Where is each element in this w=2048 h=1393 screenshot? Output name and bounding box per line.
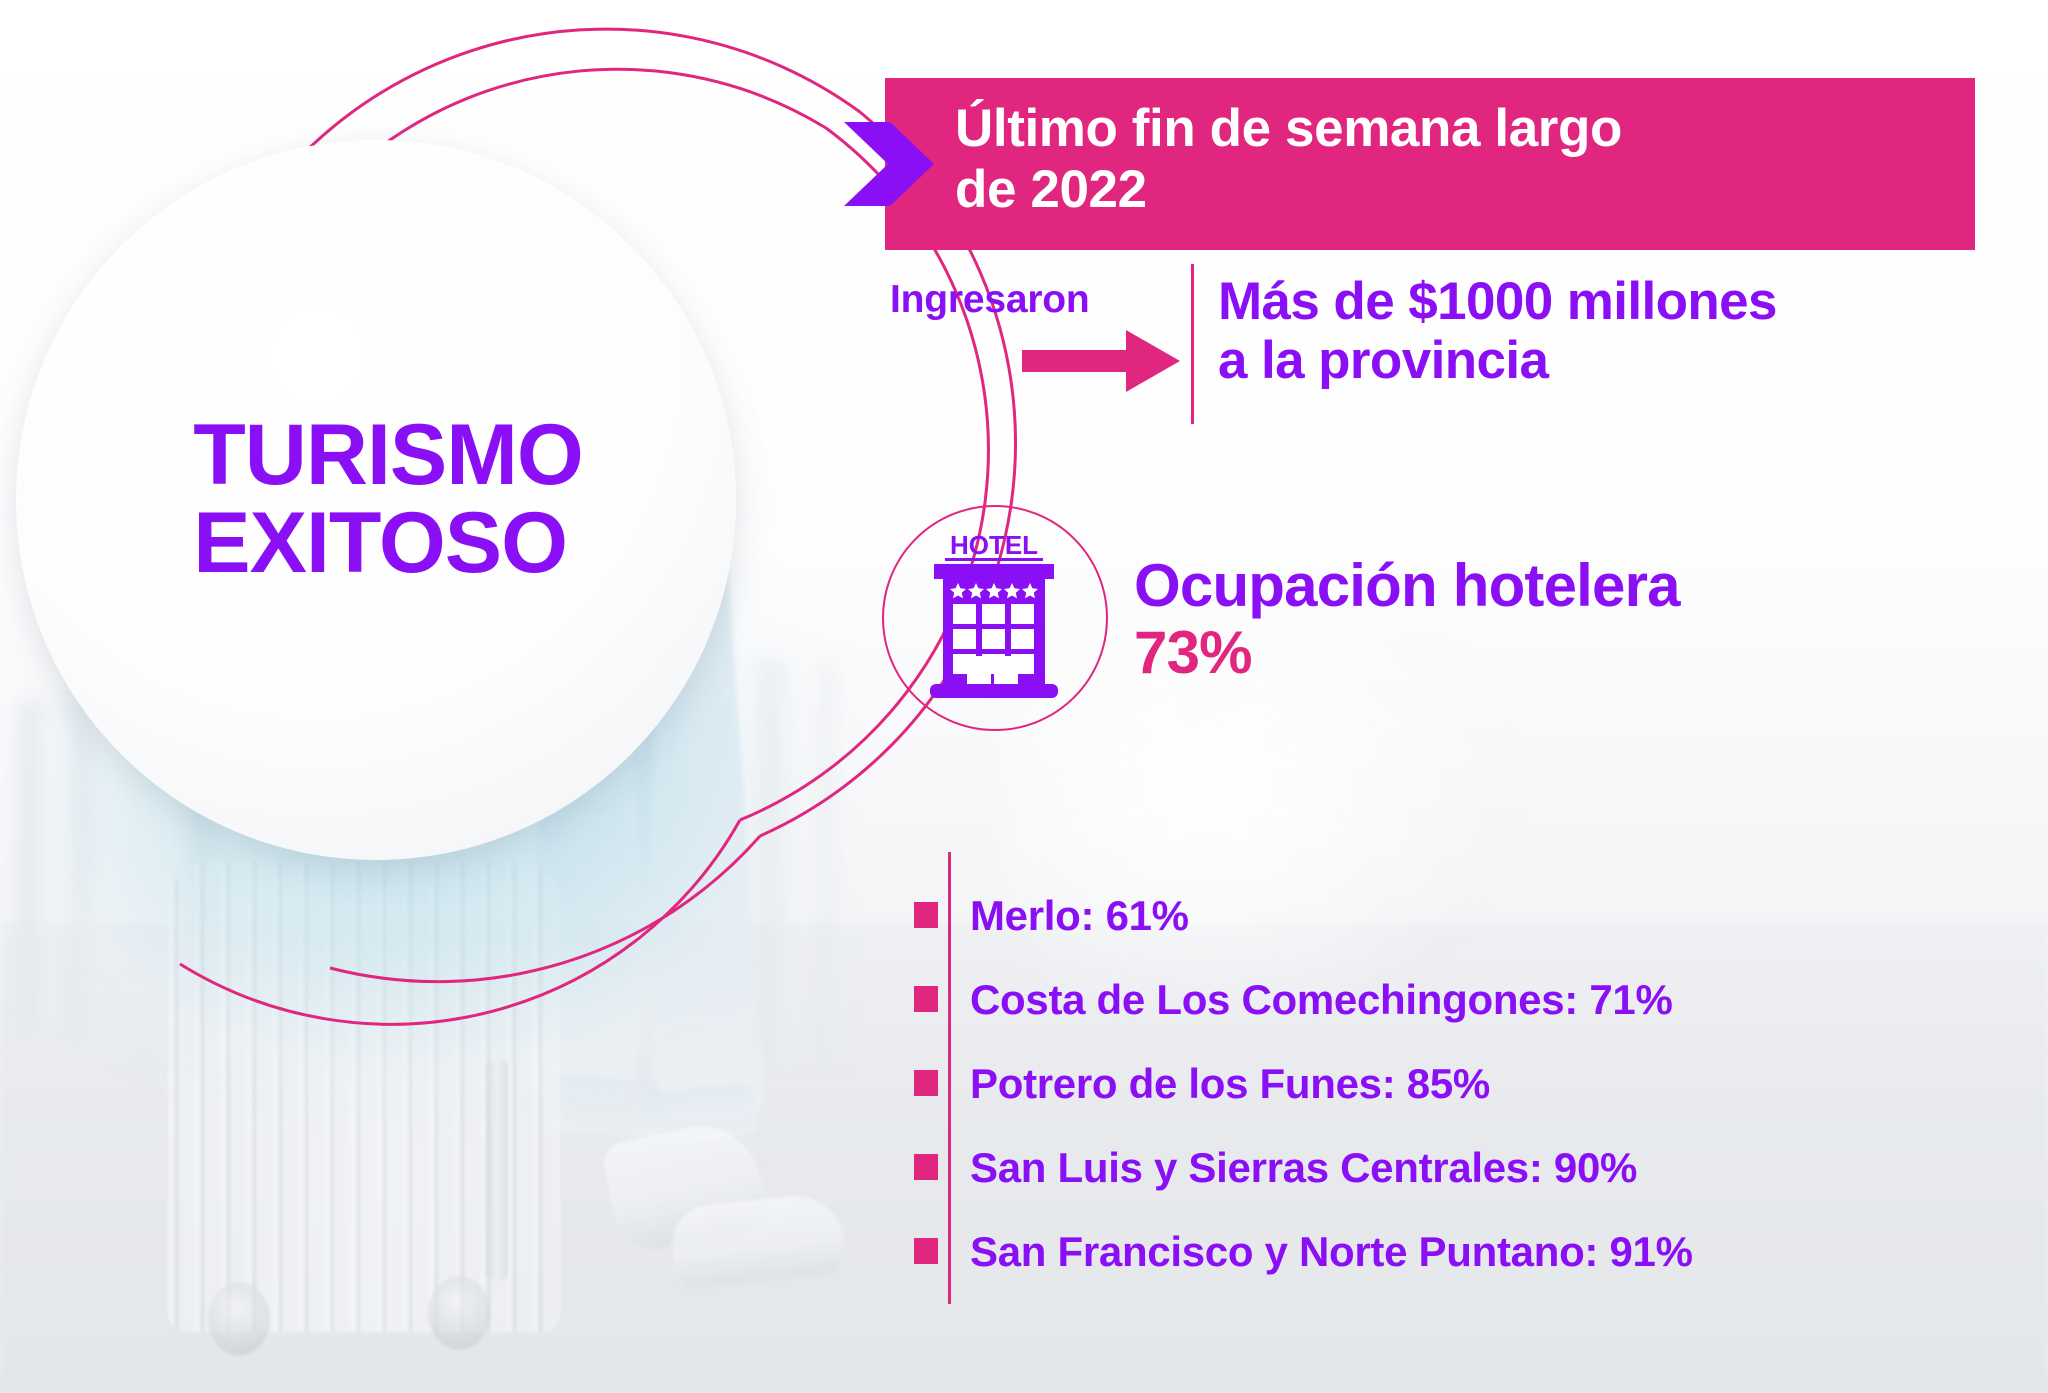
pillar xyxy=(820,660,840,1060)
hero-circle: TURISMO EXITOSO xyxy=(16,140,736,860)
list-item-label: Merlo: 61% xyxy=(970,892,1189,940)
hotel-building-icon: HOTEL xyxy=(912,530,1076,702)
list-item-label: Potrero de los Funes: 85% xyxy=(970,1060,1490,1108)
infographic-canvas: TURISMO EXITOSO Último fin de semana lar… xyxy=(0,0,2048,1393)
list-item-label: San Luis y Sierras Centrales: 90% xyxy=(970,1144,1637,1192)
list-item-label: Costa de Los Comechingones: 71% xyxy=(970,976,1673,1024)
list-item: San Francisco y Norte Puntano: 91% xyxy=(900,1210,2020,1294)
list-item: Costa de Los Comechingones: 71% xyxy=(900,958,2020,1042)
bullet-square-icon xyxy=(914,902,938,928)
hotel-occupancy-label: Ocupación hotelera xyxy=(1134,552,1680,619)
list-item: Potrero de los Funes: 85% xyxy=(900,1042,2020,1126)
page-title: TURISMO EXITOSO xyxy=(193,412,583,587)
hotel-occupancy-value: 73% xyxy=(1134,619,1680,686)
pillar xyxy=(20,700,54,1030)
revenue-label: Ingresaron xyxy=(890,278,1090,322)
list-item: Merlo: 61% xyxy=(900,874,2020,958)
bullet-square-icon xyxy=(914,1238,938,1264)
headline-text: Último fin de semana largo de 2022 xyxy=(955,98,1957,221)
list-item-label: San Francisco y Norte Puntano: 91% xyxy=(970,1228,1693,1276)
occupancy-list: Merlo: 61% Costa de Los Comechingones: 7… xyxy=(900,852,2020,1312)
revenue-value: Más de $1000 millones a la provincia xyxy=(1218,272,1777,391)
headline-banner: Último fin de semana largo de 2022 xyxy=(885,78,1975,250)
arrow-right-icon xyxy=(1022,330,1180,392)
bullet-square-icon xyxy=(914,1154,938,1180)
hotel-sign-text: HOTEL xyxy=(950,530,1038,560)
bullet-square-icon xyxy=(914,1070,938,1096)
chevron-right-icon xyxy=(844,122,934,206)
revenue-divider xyxy=(1191,264,1194,424)
suitcase-wheel xyxy=(428,1276,490,1350)
list-item: San Luis y Sierras Centrales: 90% xyxy=(900,1126,2020,1210)
suitcase-wheel xyxy=(208,1282,270,1356)
list-items: Merlo: 61% Costa de Los Comechingones: 7… xyxy=(900,874,2020,1294)
hotel-occupancy-block: Ocupación hotelera 73% xyxy=(1134,552,1680,686)
bullet-square-icon xyxy=(914,986,938,1012)
